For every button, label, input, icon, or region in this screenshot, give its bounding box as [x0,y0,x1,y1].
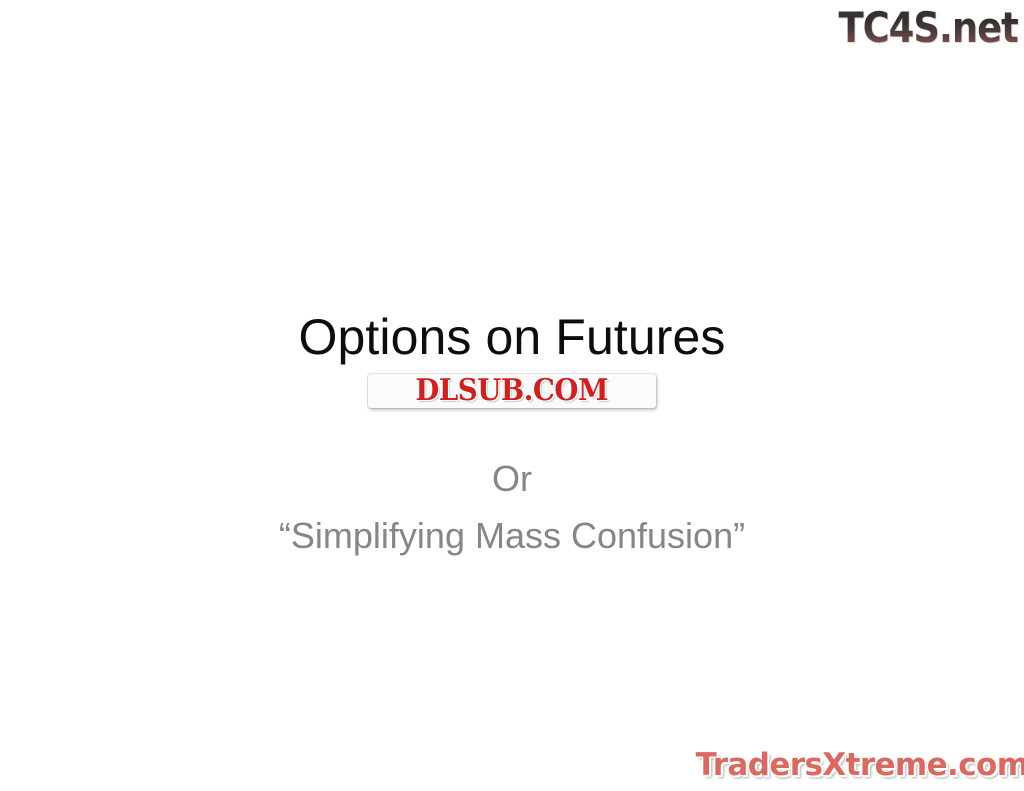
subtitle-block: Or “Simplifying Mass Confusion” [0,450,1024,564]
dlsub-watermark: DLSUB.COM [368,374,656,408]
tc4s-logo-text: TC4S.net [839,5,1018,51]
tc4s-logo: TC4S.net [828,2,1018,54]
title-block: Options on Futures [0,306,1024,368]
tradersxtreme-watermark-text: TradersXtreme.com [696,747,1024,783]
subtitle-line-2: “Simplifying Mass Confusion” [0,507,1024,564]
dlsub-watermark-text: DLSUB.COM [416,375,609,407]
page-title: Options on Futures [0,306,1024,368]
subtitle-line-1: Or [0,450,1024,507]
presentation-slide: TC4S.net Options on Futures DLSUB.COM Or… [0,0,1024,791]
tradersxtreme-watermark: TradersXtreme.com [704,743,1020,787]
